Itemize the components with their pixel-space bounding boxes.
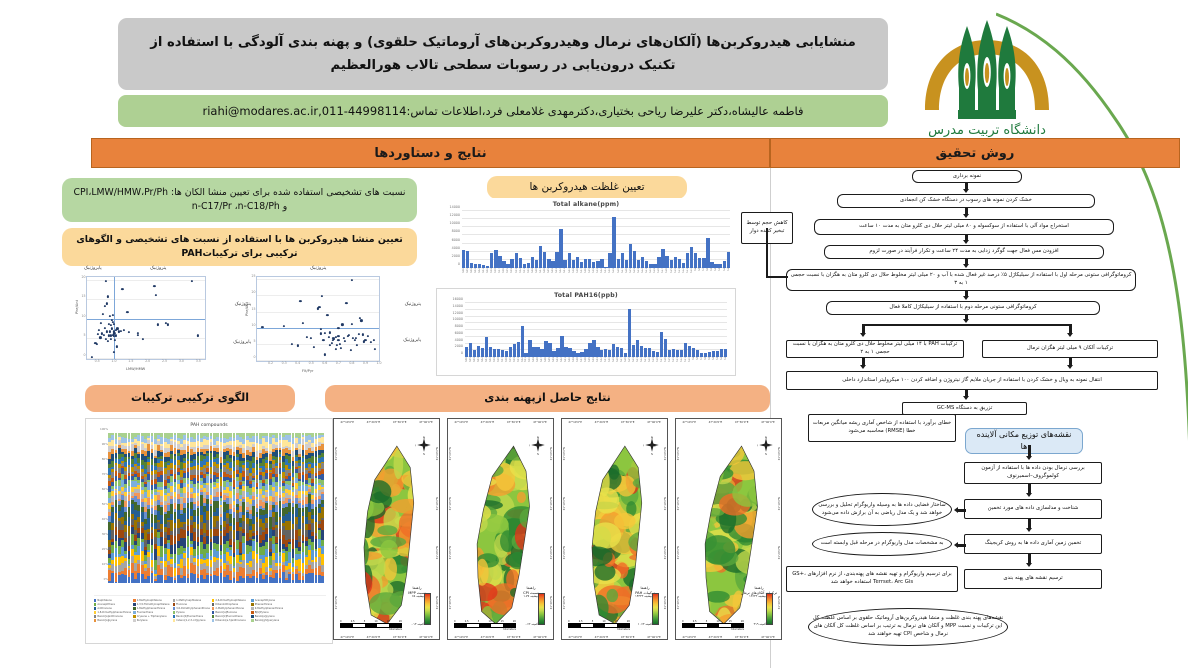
stack-segment (308, 550, 311, 559)
stack-segment (302, 516, 305, 523)
x-tick-label: S43 (555, 268, 558, 280)
x-tick-label: S3 (718, 268, 721, 280)
flow-arrow-head (963, 319, 969, 323)
x-tick-label: S54 (513, 357, 516, 369)
map-scale-segment (719, 624, 731, 626)
x-tick-label: S32 (600, 357, 603, 369)
legend-label: Fluoranthene (137, 611, 154, 614)
bar (612, 217, 615, 268)
stack-segment (131, 527, 134, 534)
x-tick-label: S8 (696, 357, 699, 369)
x-tick-label: S61 (482, 268, 485, 280)
data-point (153, 285, 155, 287)
x-tick-label: S29 (612, 357, 615, 369)
stack-segment (128, 551, 131, 559)
y-tick-label: 20 (251, 290, 255, 294)
scatter2-x-axis-label: Flt/Pyr (302, 369, 313, 373)
x-tick-label: S19 (652, 357, 655, 369)
stack-segment (220, 517, 223, 525)
stack-segment (190, 525, 193, 533)
stacked-column (167, 433, 170, 583)
stacked-column (220, 433, 223, 583)
data-point (126, 311, 128, 313)
map-y-tick: 31°30'0"N (449, 596, 452, 609)
stacked-column (187, 433, 190, 583)
stack-segment (128, 507, 131, 518)
stack-segment (311, 486, 314, 493)
stacked-column (272, 433, 275, 583)
stack-segment (252, 506, 255, 516)
map-scale-segment (503, 624, 515, 626)
map-scale-unit: Kilometers (568, 628, 630, 631)
data-point (98, 329, 100, 331)
stack-segment (167, 496, 170, 503)
stack-segment (279, 501, 282, 508)
map-y-tick: 31°10'0"N (677, 497, 680, 510)
stack-segment (256, 563, 259, 572)
x-tick-label: S45 (547, 268, 550, 280)
stack-segment (249, 552, 252, 561)
legend-label: 1,8-Dimethylphenanthrene (97, 611, 131, 614)
bar-series (465, 303, 727, 357)
scatter2-quadrant-righttop: پترو‌ژنیک (405, 302, 421, 307)
flow-node-n3: استخراج مواد آلی با استفاده از سوکسوله و… (814, 219, 1114, 235)
legend-item: Benzo[k]fluoranthene (212, 615, 249, 618)
x-tick-label: S7 (700, 357, 703, 369)
flow-node-n5: کروماتوگرافی ستونی مرحله اول با استفاده … (786, 269, 1136, 291)
stack-segment (285, 530, 288, 540)
svg-text:N: N (537, 435, 539, 439)
x-tick-label: S33 (596, 357, 599, 369)
stacked-column (242, 433, 245, 583)
flow-arrow-head (860, 365, 866, 369)
data-point (121, 288, 123, 290)
map-cpi: 47°10'0"E47°20'0"E47°30'0"E47°40'0"E47°1… (447, 418, 554, 640)
legend-swatch (251, 611, 253, 613)
stack-segment (183, 558, 186, 566)
stack-segment (288, 503, 291, 512)
stack-segment (298, 573, 301, 580)
map-x-tick: 47°10'0"E (454, 420, 468, 424)
svg-text:N: N (651, 435, 653, 439)
legend-swatch (94, 611, 96, 613)
legend-item: Benzo[a]pyrene (94, 619, 131, 622)
map-x-axis-top: 47°10'0"E47°20'0"E47°30'0"E47°40'0"E (334, 420, 439, 424)
bar (588, 343, 591, 357)
y-tick-label: 2000 (455, 344, 463, 348)
stack-segment (115, 573, 118, 581)
stack-segment (213, 549, 216, 557)
y-tick-label: 2000 (452, 254, 460, 258)
stack-segment (131, 556, 134, 563)
university-logo: دانشگاه تربیت مدرس (895, 14, 1080, 138)
stack-segment (298, 580, 301, 583)
bar (515, 253, 518, 268)
stack-segment (108, 522, 111, 530)
x-tick-label: S13 (676, 357, 679, 369)
bar (724, 349, 727, 357)
stacked-column (246, 433, 249, 583)
stack-segment (160, 575, 163, 583)
data-point (123, 329, 125, 331)
stack-segment (295, 560, 298, 567)
stack-segment (151, 545, 154, 553)
total-pah16-chart: Total PAH16(ppb) 02000400060008000100001… (436, 288, 736, 376)
stack-segment (295, 530, 298, 540)
compass-rose-icon: NSWE (415, 435, 433, 455)
stack-segment (174, 512, 177, 519)
map-scale-segment (365, 624, 377, 626)
map-y-tick: 31°20'0"N (563, 546, 566, 559)
bar (616, 347, 619, 357)
legend-item: 9-Methylphenanthrene (251, 607, 288, 610)
stacked-column (269, 433, 272, 583)
stack-segment (226, 533, 229, 541)
stack-segment (137, 564, 140, 573)
stack-segment (206, 485, 209, 492)
y-tick-label: 25 (251, 274, 255, 278)
y-tick-label: 4000 (455, 338, 463, 342)
x-tick-label: S56 (505, 357, 508, 369)
x-tick-label: 0.4 (295, 361, 300, 365)
stack-segment (197, 546, 200, 555)
stack-y-tick: 100% (100, 427, 108, 431)
x-tick-label: S49 (531, 268, 534, 280)
x-tick-label: S44 (552, 357, 555, 369)
compound-pattern-header: الگوی ترکیبی ترکیبات (85, 385, 295, 412)
stack-segment (302, 552, 305, 563)
map-scale-segment (617, 624, 629, 626)
x-tick-label: 2.5 (162, 359, 167, 363)
y-tick-label: 14000 (450, 205, 461, 209)
stacked-column (295, 433, 298, 583)
stacked-column (160, 433, 163, 583)
legend-item: Fluoranthene (133, 611, 170, 614)
bar (633, 251, 636, 268)
stack-segment (223, 536, 226, 544)
x-tick-label: S37 (580, 268, 583, 280)
pah-compounds-plot-area (108, 433, 324, 583)
y-tick-label: 10000 (450, 221, 461, 225)
x-tick-label: S53 (515, 268, 518, 280)
data-point (97, 333, 99, 335)
data-point (329, 344, 331, 346)
stack-segment (226, 541, 229, 548)
x-tick-label: S22 (640, 357, 643, 369)
x-tick-label: S30 (608, 357, 611, 369)
stack-segment (272, 536, 275, 544)
stack-segment (246, 576, 249, 583)
x-tick-label: S22 (641, 268, 644, 280)
x-tick-label: 0.5 (95, 359, 100, 363)
x-tick-label: S31 (604, 357, 607, 369)
stack-segment (206, 566, 209, 573)
stack-segment (144, 530, 147, 540)
x-tick-label: S17 (661, 268, 664, 280)
stack-segment (121, 530, 124, 537)
x-tick-label: S34 (592, 357, 595, 369)
svg-text:E: E (426, 444, 428, 448)
stack-segment (177, 534, 180, 541)
stacked-column (111, 433, 114, 583)
legend-swatch (251, 619, 253, 621)
flow-node-n9-text: تزریق به دستگاه GC-MS (937, 405, 993, 413)
data-point (313, 346, 315, 348)
map-x-tick: 47°40'0"E (533, 420, 547, 424)
flow-node-n11: شناخت و مدلسازی داده های مورد تخمین (964, 499, 1102, 519)
stack-segment (187, 536, 190, 547)
stack-segment (197, 578, 200, 583)
stack-segment (197, 566, 200, 574)
stack-segment (213, 529, 216, 536)
stack-segment (174, 528, 177, 536)
bar (644, 348, 647, 357)
data-point (356, 344, 358, 346)
bar (684, 343, 687, 358)
x-tick-label: S42 (560, 357, 563, 369)
stack-segment (144, 571, 147, 579)
map-scale-unit: Kilometers (340, 628, 402, 631)
map-interpolation-surface (348, 429, 428, 641)
stack-segment (147, 490, 150, 497)
map-x-axis-top: 47°10'0"E47°20'0"E47°30'0"E47°40'0"E (448, 420, 553, 424)
flow-node-n3-text: استخراج مواد آلی با استفاده از سوکسوله و… (859, 223, 1069, 231)
bar (584, 259, 587, 268)
stack-segment (121, 547, 124, 557)
stack-segment (121, 517, 124, 524)
stack-segment (220, 573, 223, 583)
legend-item: B[b]Pyrene (251, 611, 288, 614)
legend-item: Naphtalene (94, 599, 131, 602)
flow-node-n7b-text: ترکیبات PAH با ۱۴ میلی لیتر مخلوط حلال د… (790, 341, 960, 356)
gridline (87, 299, 205, 300)
map-y-tick: 31°10'0"N (335, 497, 338, 510)
map-x-tick: 47°40'0"E (647, 420, 661, 424)
x-tick-label: S33 (596, 268, 599, 280)
flow-arrow-head (963, 296, 969, 300)
bar (528, 340, 531, 357)
stacked-column (128, 433, 131, 583)
x-tick-label: S66 (465, 357, 468, 369)
stack-segment (265, 542, 268, 549)
stacked-column (190, 433, 193, 583)
stack-segment (302, 464, 305, 472)
legend-label: Benzo[ghi]perylene (255, 619, 279, 622)
x-tick-label: S65 (466, 268, 469, 280)
stacked-column (321, 433, 324, 583)
stack-segment (226, 524, 229, 533)
stack-segment (321, 565, 324, 572)
authors-contact-bar: فاطمه عالیشاه،دکتر علیرضا ریاحی بختیاری،… (118, 95, 888, 127)
bar (612, 344, 615, 357)
stack-segment (118, 557, 121, 566)
bar (494, 250, 497, 268)
x-tick-label: S39 (572, 268, 575, 280)
stack-segment (295, 517, 298, 524)
bar (501, 350, 504, 357)
bar (493, 349, 496, 357)
legend-swatch (173, 603, 175, 605)
x-tick-label: S15 (668, 357, 671, 369)
legend-item: Pyrene (173, 611, 210, 614)
stack-segment (321, 530, 324, 540)
pah-compounds-title: PAH compounds (86, 423, 332, 428)
stack-segment (233, 578, 236, 583)
x-tick-label: S48 (535, 268, 538, 280)
stack-segment (275, 544, 278, 552)
stack-segment (111, 564, 114, 571)
map-x-tick: 47°10'0"E (568, 420, 582, 424)
bar (674, 257, 677, 268)
x-tick-label: S66 (462, 268, 465, 280)
x-tick-label: S14 (672, 357, 675, 369)
x-tick-label: S63 (477, 357, 480, 369)
stack-segment (279, 556, 282, 563)
stack-segment (177, 510, 180, 519)
data-point (320, 328, 322, 330)
stack-segment (115, 500, 118, 507)
bar (469, 343, 472, 358)
stack-segment (252, 559, 255, 569)
stack-segment (157, 556, 160, 565)
bar (548, 343, 551, 357)
data-point (108, 331, 110, 333)
legend-label: 2,6-Dimethylnaphtalene (215, 599, 245, 602)
stack-segment (292, 529, 295, 540)
bar (559, 229, 562, 268)
x-tick-label: S2 (723, 268, 726, 280)
x-tick-label: S42 (559, 268, 562, 280)
x-tick-label: S46 (544, 357, 547, 369)
stacked-column (233, 433, 236, 583)
stack-segment (167, 576, 170, 583)
legend-item: Crysene + Triphenylene (133, 615, 170, 618)
stack-segment (295, 524, 298, 531)
stack-segment (269, 444, 272, 451)
map-scale-segment (455, 624, 467, 626)
stack-segment (118, 511, 121, 518)
map-y-tick: 31°10'0"N (436, 497, 439, 510)
map-scale-segment (683, 624, 695, 626)
svg-text:W: W (757, 444, 758, 448)
x-tick-label: S60 (489, 357, 492, 369)
x-tick-label: S58 (494, 268, 497, 280)
data-point (299, 300, 301, 302)
stack-segment (141, 542, 144, 551)
data-point (364, 339, 366, 341)
map-x-tick: 47°30'0"E (393, 420, 407, 424)
legend-label: Acenaphthene (97, 603, 115, 606)
stack-segment (118, 565, 121, 572)
x-tick-label: S23 (636, 357, 639, 369)
stack-segment (177, 568, 180, 575)
legend-swatch (94, 599, 96, 601)
poster-title: منشایابی هیدروکربن‌ها (آلکان‌های نرمال و… (118, 18, 888, 90)
x-tick-label: S60 (486, 268, 489, 280)
map-scale-segment (593, 624, 605, 626)
y-tick-label: 0 (458, 262, 460, 266)
stacked-column (298, 433, 301, 583)
bar (668, 350, 671, 357)
data-point (351, 323, 353, 325)
data-point (137, 332, 139, 334)
stack-segment (269, 577, 272, 583)
legend-swatch (94, 619, 96, 621)
scatter2-quadrant-rightbottom: پایروژنیک (403, 338, 421, 343)
flow-node-n1-text: نمونه برداری (953, 173, 981, 181)
legend-item: Perylene (133, 619, 170, 622)
bar (661, 249, 664, 268)
x-tick-label: 1.0 (376, 361, 381, 365)
stack-segment (311, 523, 314, 533)
stack-segment (170, 504, 173, 514)
map-interpolation-surface (576, 429, 656, 641)
stack-segment (131, 563, 134, 573)
stack-segment (154, 549, 157, 560)
stack-segment (190, 509, 193, 517)
x-tick-label: S64 (473, 357, 476, 369)
map-scale-segments (454, 623, 516, 627)
stack-segment (210, 529, 213, 537)
scatter1-quadrant-topleft: پایروژنیک (84, 266, 102, 271)
stacked-column (213, 433, 216, 583)
stacked-column (223, 433, 226, 583)
stack-segment (302, 563, 305, 574)
x-tick-label: S61 (485, 357, 488, 369)
x-tick-label: S54 (510, 268, 513, 280)
x-tick-label: S62 (481, 357, 484, 369)
stack-segment (262, 555, 265, 563)
legend-label: Acenaphthylene (255, 599, 275, 602)
stack-segment (121, 563, 124, 571)
stack-segment (236, 513, 239, 521)
bar (539, 246, 542, 268)
x-tick-label: S16 (665, 268, 668, 280)
x-tick-label: 3.5 (196, 359, 201, 363)
y-tick-label: 5 (83, 333, 85, 337)
x-tick-label: S46 (543, 268, 546, 280)
flow-arrow-head (963, 240, 969, 244)
map-y-tick: 31°20'0"N (664, 546, 667, 559)
map-scale-segments (682, 623, 744, 627)
data-point (328, 336, 330, 338)
stack-segment (200, 529, 203, 536)
x-tick-label: 0.5 (309, 361, 314, 365)
section-header-method-label: روش تحقیق (936, 146, 1015, 161)
stack-segment (292, 507, 295, 514)
stack-segment (259, 535, 262, 544)
map-scale-segment (341, 624, 353, 626)
stack-segment (121, 574, 124, 583)
stack-segment (279, 529, 282, 539)
legend-item: Phenanthrene (251, 603, 288, 606)
bar (727, 252, 730, 268)
stack-segment (151, 553, 154, 560)
stack-segment (269, 556, 272, 565)
stack-segment (275, 553, 278, 564)
flow-node-s6-text: نقشه‌های پهنه بندی غلظت و منشا هیدروکربن… (812, 615, 1004, 638)
data-point (372, 339, 374, 341)
bar (497, 349, 500, 357)
bar (498, 256, 501, 268)
stacked-column (239, 433, 242, 583)
stack-segment (249, 567, 252, 574)
flow-node-s4-text: به مشخصات مدل واریوگرام در مرحله قبل واب… (821, 540, 944, 548)
legend-item: Dibenzothiophene (212, 603, 249, 606)
stack-segment (282, 572, 285, 583)
map-ramp-high-label: بیشینه ۱۲۶۳۳ (749, 594, 766, 598)
map-legend-title: راهنما (513, 586, 549, 590)
